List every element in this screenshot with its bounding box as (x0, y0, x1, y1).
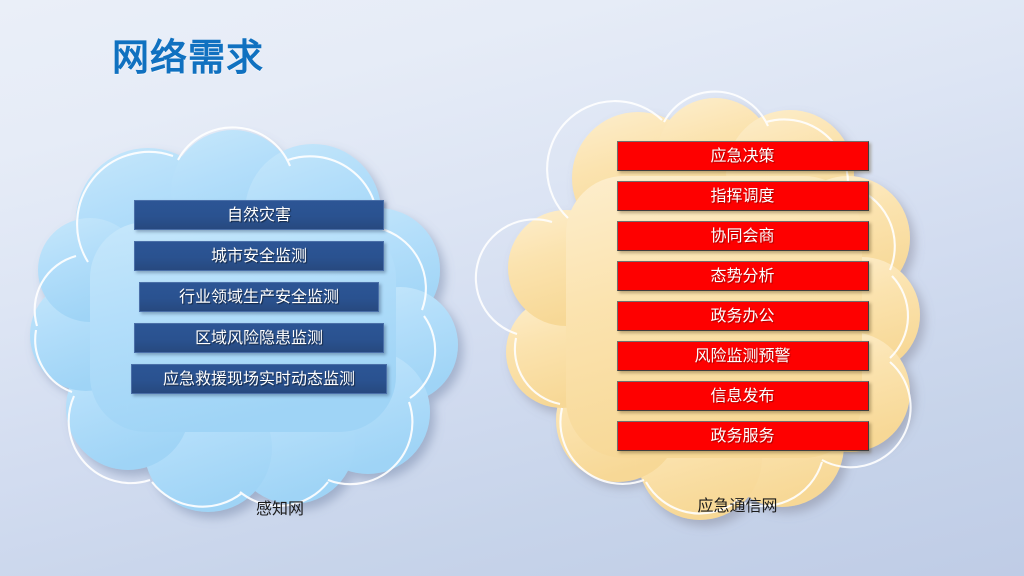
list-item[interactable]: 行业领域生产安全监测 (139, 282, 379, 312)
sensing-network-cloud: 自然灾害 城市安全监测 行业领域生产安全监测 区域风险隐患监测 应急救援现场实时… (28, 130, 458, 530)
sensing-network-item-list: 自然灾害 城市安全监测 行业领域生产安全监测 区域风险隐患监测 应急救援现场实时… (114, 200, 404, 405)
list-item[interactable]: 区域风险隐患监测 (134, 323, 384, 353)
list-item[interactable]: 城市安全监测 (134, 241, 384, 271)
emergency-communication-network-caption: 应急通信网 (630, 492, 845, 516)
list-item[interactable]: 自然灾害 (134, 200, 384, 230)
emergency-communication-item-list: 应急决策 指挥调度 协同会商 态势分析 政务办公 风险监测预警 信息发布 政务服… (610, 141, 875, 461)
list-item[interactable]: 应急救援现场实时动态监测 (131, 364, 387, 394)
list-item[interactable]: 应急决策 (617, 141, 869, 171)
page-title: 网络需求 (112, 27, 264, 81)
list-item[interactable]: 指挥调度 (617, 181, 869, 211)
list-item[interactable]: 政务服务 (617, 421, 869, 451)
list-item[interactable]: 风险监测预警 (617, 341, 869, 371)
list-item[interactable]: 政务办公 (617, 301, 869, 331)
sensing-network-caption: 感知网 (180, 495, 380, 519)
list-item[interactable]: 态势分析 (617, 261, 869, 291)
emergency-communication-network-cloud: 应急决策 指挥调度 协同会商 态势分析 政务办公 风险监测预警 信息发布 政务服… (510, 100, 920, 530)
list-item[interactable]: 信息发布 (617, 381, 869, 411)
list-item[interactable]: 协同会商 (617, 221, 869, 251)
slide-canvas: 网络需求 (0, 0, 1024, 576)
